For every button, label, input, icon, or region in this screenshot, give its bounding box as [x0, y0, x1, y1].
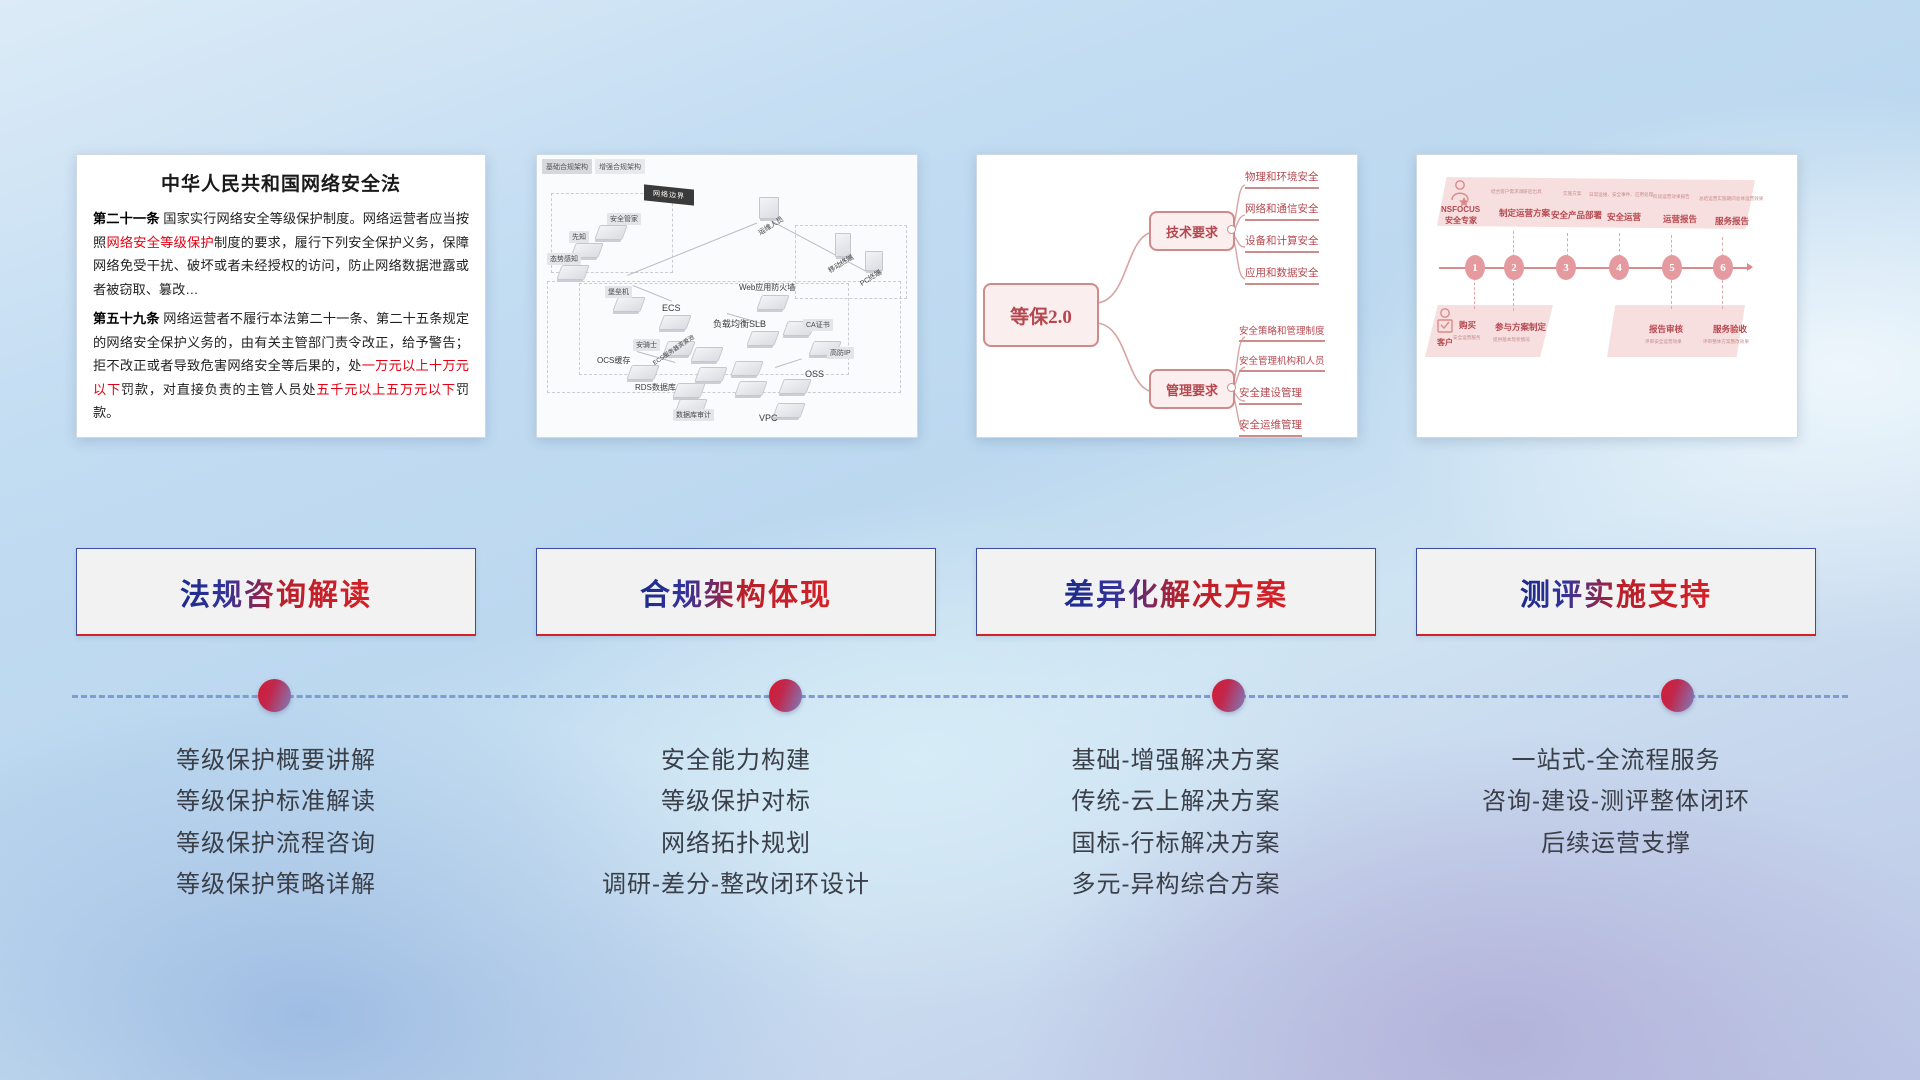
roadmap-top-label: 服务报告	[1715, 215, 1749, 227]
server-icon	[672, 383, 705, 398]
server-icon	[734, 381, 767, 396]
list-item: 调研-差分-整改闭环设计	[536, 864, 936, 905]
roadmap-bottom-label: 报告审核	[1649, 323, 1683, 335]
card-law-text: 中华人民共和国网络安全法 第二十一条 国家实行网络安全等级保护制度。网络运营者应…	[76, 154, 486, 438]
roadmap-connector	[1567, 233, 1569, 257]
architecture-node-label: ECS	[662, 303, 681, 313]
roadmap-top-label: 运营报告	[1663, 213, 1697, 225]
mindmap-collapse-dot-technical[interactable]	[1227, 225, 1236, 234]
list-item: 等级保护标准解读	[76, 781, 476, 822]
roadmap-top-sub: 总结运营实施期间总体运营效果	[1699, 196, 1763, 202]
roadmap-top-label: 安全运营	[1607, 211, 1641, 223]
roadmap-customer-role: 客户	[1437, 337, 1453, 348]
roadmap-top-label: 安全产品部署	[1551, 209, 1602, 221]
list-item: 传统-云上解决方案	[976, 781, 1376, 822]
server-icon	[594, 225, 627, 240]
architecture-node-bastion: 堡垒机	[615, 297, 643, 312]
expert-person-icon	[1447, 179, 1473, 207]
roadmap-connector	[1722, 237, 1724, 257]
server-icon	[778, 379, 811, 394]
mindmap-collapse-dot-management[interactable]	[1227, 383, 1236, 392]
roadmap-step[interactable]: 5	[1662, 255, 1682, 280]
architecture-node-label: 态势感知	[547, 253, 581, 265]
timeline-dot-2[interactable]	[769, 679, 802, 712]
heading-label: 合规架构体现	[640, 570, 832, 614]
architecture-node-label: Web应用防火墙	[739, 282, 795, 293]
architecture-node-label: OSS	[805, 369, 824, 379]
architecture-node-label: 安全管家	[607, 213, 641, 225]
timeline	[72, 694, 1848, 698]
list-item: 等级保护流程咨询	[76, 823, 476, 864]
architecture-node-label: 先知	[569, 231, 589, 243]
law-article-59-text-b: 罚款，对直接负责的主管人员处	[121, 382, 316, 397]
mindmap-leaf: 物理和环境安全	[1245, 169, 1319, 189]
roadmap-connector	[1671, 235, 1673, 257]
architecture-node-label: OCS缓存	[597, 355, 630, 366]
architecture-node-label: VPC	[759, 413, 778, 423]
list-item: 网络拓扑规划	[536, 823, 936, 864]
architecture-node-stack-d	[737, 381, 765, 396]
roadmap-step[interactable]: 6	[1713, 255, 1733, 280]
roadmap-top-sub: 阶段运营效果报告	[1653, 194, 1690, 200]
list-item: 安全能力构建	[536, 740, 936, 781]
architecture-tab-enhanced[interactable]: 增强合规架构	[595, 159, 645, 174]
roadmap-top-sub: 日常运维、安全事件、应用处理	[1589, 192, 1653, 198]
heading-label: 测评实施支持	[1520, 570, 1712, 614]
list-item: 等级保护策略详解	[76, 864, 476, 905]
roadmap-expert-role: 安全专家	[1445, 215, 1477, 226]
server-icon	[626, 365, 659, 380]
roadmap-bottom-label: 购买	[1459, 319, 1476, 331]
architecture-node-stack-b	[697, 367, 725, 382]
card-mindmap: 等保2.0 技术要求 管理要求 物理和环境安全 网络和通信安全 设备和计算安全 …	[976, 154, 1358, 438]
timeline-dot-4[interactable]	[1661, 679, 1694, 712]
architecture-node-stack-c	[733, 361, 761, 376]
timeline-dashed-line	[72, 695, 1848, 698]
column-list-1: 等级保护概要讲解 等级保护标准解读 等级保护流程咨询 等级保护策略详解	[76, 740, 476, 905]
roadmap-step[interactable]: 2	[1504, 255, 1524, 280]
roadmap-step[interactable]: 3	[1556, 255, 1576, 280]
law-paragraph-21: 第二十一条 国家实行网络安全等级保护制度。网络运营者应当按照网络安全等级保护制度…	[93, 207, 469, 301]
mindmap-leaf: 应用和数据安全	[1245, 265, 1319, 285]
roadmap-top-sub: 实施方案	[1563, 191, 1581, 197]
roadmap-connector	[1619, 233, 1621, 257]
roadmap-bottom-sub: 安全运营服务	[1453, 335, 1481, 341]
server-icon	[756, 295, 789, 310]
architecture-node-waf: Web应用防火墙	[759, 295, 787, 310]
architecture-node-db-audit: 数据库审计	[677, 399, 705, 414]
list-item: 一站式-全流程服务	[1416, 740, 1816, 781]
mindmap-leaf: 安全运维管理	[1239, 417, 1302, 437]
architecture-node-ocs-cache: OCS缓存	[629, 365, 657, 380]
roadmap-bottom-sub: 评审安全运营效果	[1645, 339, 1682, 345]
column-list-3: 基础-增强解决方案 传统-云上解决方案 国标-行标解决方案 多元-异构综合方案	[976, 740, 1376, 905]
roadmap-bottom-sub: 提供基本现状情况	[1493, 337, 1530, 343]
roadmap-expert-name: NSFOCUS	[1441, 205, 1480, 214]
mindmap-root-node[interactable]: 等保2.0	[983, 283, 1099, 347]
list-item: 后续运营支撑	[1416, 823, 1816, 864]
architecture-node-vpc: VPC	[775, 403, 803, 418]
timeline-dot-1[interactable]	[258, 679, 291, 712]
architecture-node-label: CA证书	[803, 319, 833, 331]
architecture-node-security-butler: 安全管家	[597, 225, 625, 240]
card-architecture-diagram: 基础合规架构 增强合规架构 网络边界 安全管家 先知	[536, 154, 918, 438]
architecture-node-stack-a	[693, 347, 721, 362]
architecture-node-situational-awareness: 态势感知	[559, 265, 587, 280]
architecture-node-label: 堡垒机	[605, 286, 632, 298]
architecture-node-oss: OSS	[781, 379, 809, 394]
heading-box-1[interactable]: 法规咨询解读	[76, 548, 476, 636]
server-icon	[690, 347, 723, 362]
mindmap-leaf: 设备和计算安全	[1245, 233, 1319, 253]
roadmap-connector	[1671, 275, 1673, 309]
pc-icon	[865, 251, 883, 271]
list-item: 等级保护概要讲解	[76, 740, 476, 781]
server-icon	[746, 331, 779, 346]
architecture-node-ecs: ECS	[661, 315, 689, 330]
architecture-node-rds: RDS数据库	[675, 383, 703, 398]
architecture-node-pc: PC终端	[865, 251, 883, 271]
timeline-dot-3[interactable]	[1212, 679, 1245, 712]
mindmap-leaf: 安全管理机构和人员	[1239, 353, 1325, 372]
roadmap-step[interactable]: 4	[1609, 255, 1629, 280]
heading-row: 法规咨询解读 合规架构体现 差异化解决方案 测评实施支持	[0, 548, 1920, 638]
roadmap-axis	[1439, 267, 1751, 269]
list-item: 咨询-建设-测评整体闭环	[1416, 781, 1816, 822]
law-article-21-highlight: 网络安全等级保护	[106, 235, 214, 250]
customer-person-icon	[1433, 307, 1457, 335]
server-icon	[694, 367, 727, 382]
architecture-node-label: 安骑士	[633, 339, 660, 351]
law-article-59-label: 第五十九条	[93, 311, 160, 326]
mindmap-branch-management[interactable]: 管理要求	[1149, 369, 1235, 409]
server-icon	[658, 315, 691, 330]
law-title: 中华人民共和国网络安全法	[93, 169, 469, 196]
roadmap-bottom-sub: 评审整体方案整改效果	[1703, 339, 1749, 345]
roadmap-top-sub: 结合客户需求调研后出具	[1491, 189, 1542, 195]
list-item: 基础-增强解决方案	[976, 740, 1376, 781]
architecture-tab-basic[interactable]: 基础合规架构	[542, 159, 592, 174]
mindmap-leaf: 安全建设管理	[1239, 385, 1302, 405]
heading-label: 法规咨询解读	[180, 570, 372, 614]
architecture-tabs: 基础合规架构 增强合规架构	[542, 159, 645, 174]
roadmap-top-label: 制定运营方案	[1499, 207, 1550, 219]
server-icon	[612, 297, 645, 312]
list-item: 多元-异构综合方案	[976, 864, 1376, 905]
architecture-node-slb: 负载均衡SLB	[749, 331, 777, 346]
card-roadmap: NSFOCUS 安全专家 客户 结合客户需求调研后出具 制定运营方案 实施方案 …	[1416, 154, 1798, 438]
roadmap-top-band	[1437, 177, 1755, 229]
roadmap-bottom-label: 服务验收	[1713, 323, 1747, 335]
mindmap-branch-technical[interactable]: 技术要求	[1149, 211, 1235, 251]
server-icon	[730, 361, 763, 376]
architecture-node-ca: CA证书	[785, 321, 813, 336]
mindmap-leaf: 安全策略和管理制度	[1239, 323, 1325, 342]
roadmap-bottom-label: 参与方案制定	[1495, 321, 1546, 333]
roadmap-axis-arrow-icon	[1747, 263, 1753, 271]
roadmap-connector	[1722, 275, 1724, 309]
list-item: 国标-行标解决方案	[976, 823, 1376, 864]
architecture-node-label: 数据库审计	[673, 409, 714, 421]
server-icon	[556, 265, 589, 280]
slide-canvas: 中华人民共和国网络安全法 第二十一条 国家实行网络安全等级保护制度。网络运营者应…	[0, 0, 1920, 1080]
law-paragraph-59: 第五十九条 网络运营者不履行本法第二十一条、第二十五条规定的网络安全保护义务的，…	[93, 307, 469, 425]
list-item: 等级保护对标	[536, 781, 936, 822]
column-list-2: 安全能力构建 等级保护对标 网络拓扑规划 调研-差分-整改闭环设计	[536, 740, 936, 905]
mindmap-leaf: 网络和通信安全	[1245, 201, 1319, 221]
roadmap-connector	[1513, 231, 1515, 257]
heading-box-4[interactable]: 测评实施支持	[1416, 548, 1816, 636]
architecture-node-label: 负载均衡SLB	[713, 317, 766, 330]
architecture-node-ops-staff: 运维人员	[759, 197, 779, 219]
architecture-node-label: RDS数据库	[635, 382, 676, 393]
column-list-4: 一站式-全流程服务 咨询-建设-测评整体闭环 后续运营支撑	[1416, 740, 1816, 864]
heading-box-2[interactable]: 合规架构体现	[536, 548, 936, 636]
law-article-21-label: 第二十一条	[93, 211, 160, 226]
architecture-node-label: 高防IP	[827, 347, 854, 359]
heading-box-3[interactable]: 差异化解决方案	[976, 548, 1376, 636]
law-article-59-highlight-2: 五千元以上五万元以下	[316, 382, 456, 397]
heading-label: 差异化解决方案	[1064, 570, 1288, 614]
architecture-node-anti-ddos: 高防IP	[811, 341, 839, 356]
architecture-node-mobile: 移动终端	[835, 233, 851, 257]
roadmap-step[interactable]: 1	[1465, 255, 1485, 280]
